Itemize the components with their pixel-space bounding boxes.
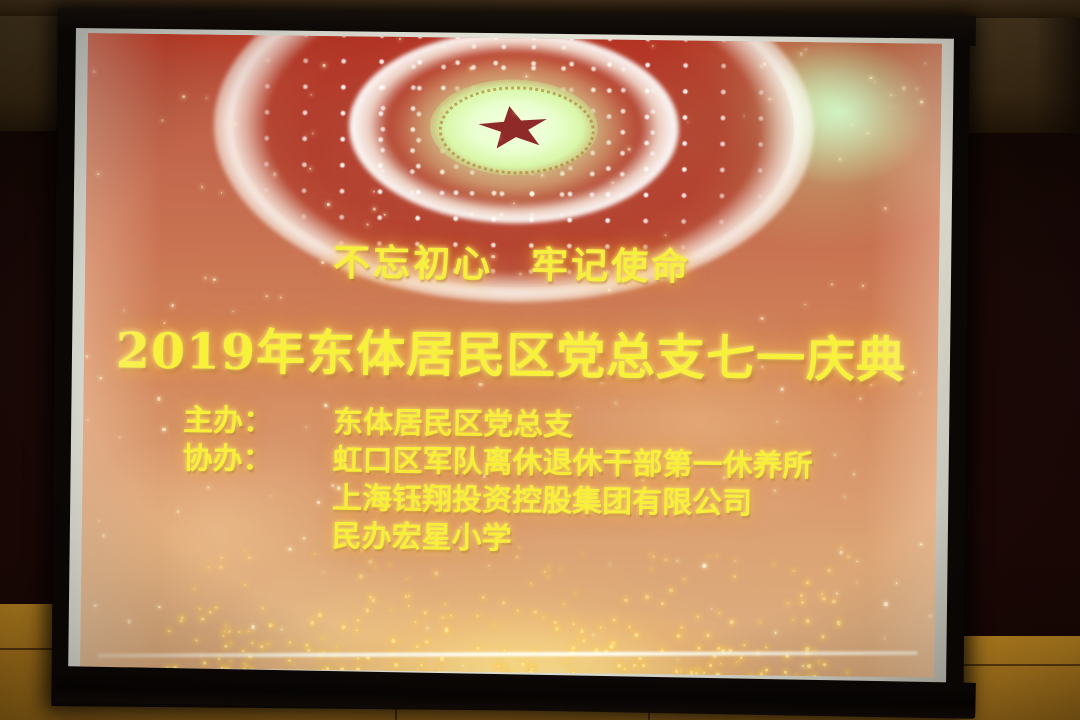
- wall-shadow-right: [1035, 18, 1080, 136]
- credit-label: 协办：: [182, 440, 332, 480]
- credit-label: 主办：: [183, 402, 333, 442]
- slide-title: 2019年东体居民区党总支七一庆典: [84, 311, 939, 393]
- projection-screen-photo: 不忘初心牢记使命 2019年东体居民区党总支七一庆典 主办：东体居民区党总支协办…: [0, 0, 1080, 720]
- projected-slide: 不忘初心牢记使命 2019年东体居民区党总支七一庆典 主办：东体居民区党总支协办…: [80, 33, 942, 678]
- credit-value: 上海钰翔投资控股集团有限公司: [332, 480, 752, 523]
- wood-seam: [958, 664, 1080, 666]
- credit-value: 民办宏星小学: [331, 518, 511, 558]
- wood-panel-right: [958, 636, 1080, 720]
- slide-credits: 主办：东体居民区党总支协办：虹口区军队离休退休干部第一休养所协办：上海钰翔投资控…: [181, 402, 813, 562]
- slide-text-block: 不忘初心牢记使命 2019年东体居民区党总支七一庆典 主办：东体居民区党总支协办…: [80, 33, 942, 678]
- credit-value: 东体居民区党总支: [333, 404, 573, 445]
- credit-row: 协办：民办宏星小学: [181, 516, 811, 562]
- slogan-part-1: 不忘初心: [333, 240, 494, 286]
- credit-row: 协办：虹口区军队离休退休干部第一休养所: [182, 440, 812, 486]
- credit-value: 虹口区军队离休退休干部第一休养所: [332, 442, 812, 486]
- slogan-part-2: 牢记使命: [531, 243, 692, 289]
- slide-slogan: 不忘初心牢记使命: [85, 229, 940, 294]
